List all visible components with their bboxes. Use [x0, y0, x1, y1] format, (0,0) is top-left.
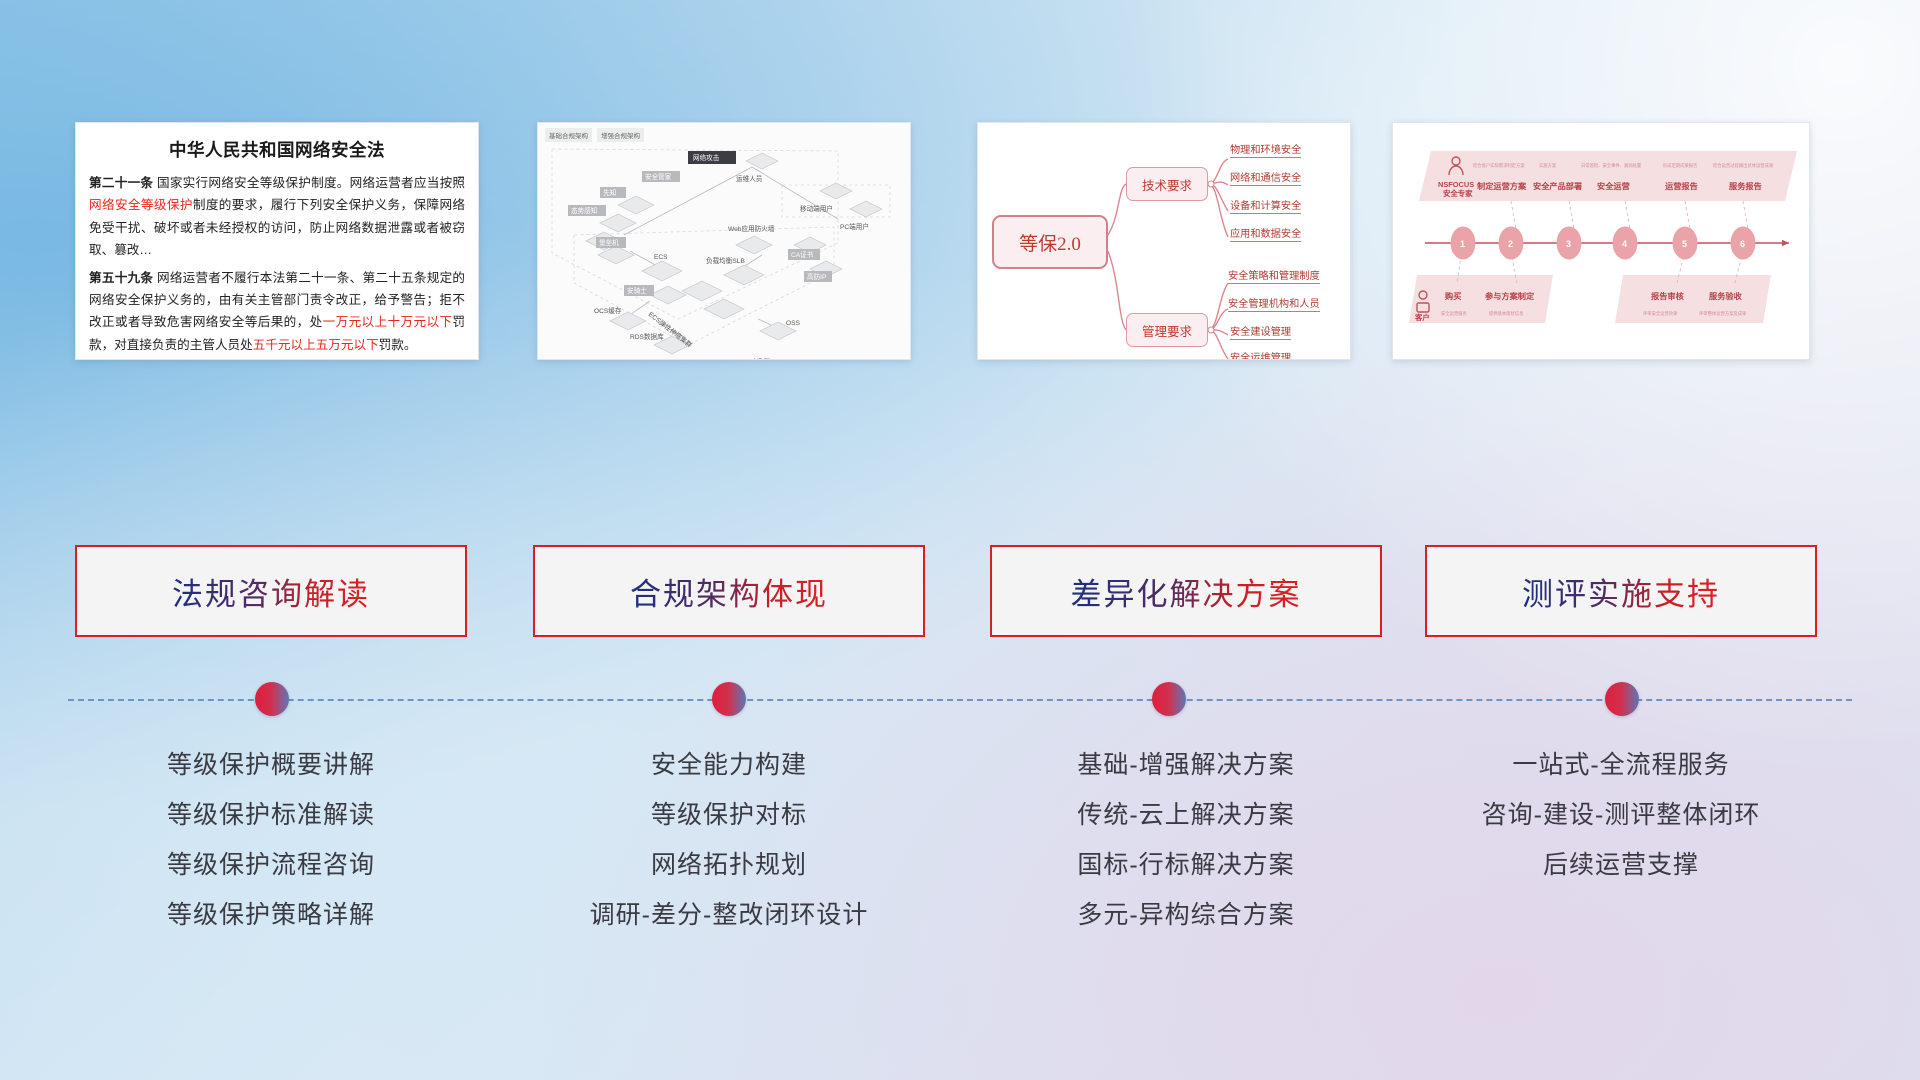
node-label-15: OCS缓存 [594, 306, 622, 315]
flow-bot-sub-5: 评审安全运营效果 [1643, 310, 1678, 317]
title-box-differentiated-solution[interactable]: 差异化解决方案 [990, 545, 1382, 637]
list-item: 等级保护概要讲解 [75, 740, 467, 790]
list-item: 等级保护流程咨询 [75, 840, 467, 890]
flow-bot-sub-6: 评审整体运营方案及成果 [1699, 310, 1747, 317]
mindmap-diagram: 等保2.0 技术要求 管理要求 物理和环境安全 网络和通信安全 设备和计算安全 … [978, 123, 1350, 359]
node-label-10: 高防IP [807, 272, 827, 281]
title-label-4: 测评实施支持 [1522, 569, 1720, 614]
mindmap-leaf-m1[interactable]: 安全管理机构和人员 [1228, 295, 1320, 312]
law-title: 中华人民共和国网络安全法 [89, 137, 465, 162]
mindmap-branch-technical[interactable]: 技术要求 [1126, 167, 1208, 201]
detail-list-compliance-architecture: 安全能力构建 等级保护对标 网络拓扑规划 调研-差分-整改闭环设计 [533, 740, 925, 940]
list-item: 一站式-全流程服务 [1425, 740, 1817, 790]
timeline-dot-2[interactable] [712, 682, 746, 716]
timeline [0, 695, 1920, 705]
service-flow-diagram: 1 2 3 4 5 6 NSFOCUS 安全专家 客户 [1393, 123, 1809, 359]
detail-list-differentiated-solution: 基础-增强解决方案 传统-云上解决方案 国标-行标解决方案 多元-异构综合方案 [990, 740, 1382, 940]
flow-bot-sub-2: 提供基本现状信息 [1489, 310, 1524, 317]
list-item: 后续运营支撑 [1425, 840, 1817, 890]
service-flow-canvas: 1 2 3 4 5 6 NSFOCUS 安全专家 客户 [1393, 123, 1810, 360]
law-article-label-1: 第二十一条 [89, 176, 153, 190]
node-label-5: 移动端用户 [800, 204, 833, 213]
node-label-3: 态势感知 [571, 206, 597, 215]
law-seg-2-3-highlight: 五千元以上五万元以下 [253, 338, 379, 352]
list-item: 基础-增强解决方案 [990, 740, 1382, 790]
architecture-canvas: 网络攻击 安全管家 先知 态势感知 运维人员 移动端用户 PC端用户 堡垒机 W… [538, 123, 911, 360]
architecture-node-shapes [586, 153, 882, 360]
list-item: 调研-差分-整改闭环设计 [533, 890, 925, 940]
flow-top-sub-3: 实施方案 [1539, 162, 1557, 169]
mindmap-leaf-t1[interactable]: 网络和通信安全 [1230, 169, 1301, 186]
mindmap-leaf-t2[interactable]: 设备和计算安全 [1230, 197, 1301, 214]
title-label-3: 差异化解决方案 [1071, 569, 1302, 614]
mindmap-root-node[interactable]: 等保2.0 [992, 215, 1108, 269]
flow-top-title-2: 制定运营方案 [1477, 181, 1527, 191]
list-item: 安全能力构建 [533, 740, 925, 790]
node-label-8: Web应用防火墙 [728, 224, 775, 233]
flow-top-sub-6: 结合运营过程输出总体运营成果 [1713, 162, 1774, 169]
mindmap-leaf-m0[interactable]: 安全策略和管理制度 [1228, 267, 1320, 284]
node-label-9: CA证书 [791, 250, 814, 259]
architecture-diagram: 基础合规架构 增强合规架构 [538, 123, 910, 359]
title-box-regulation-consulting[interactable]: 法规咨询解读 [75, 545, 467, 637]
law-seg-2-4: 罚款。 [379, 338, 417, 352]
node-label-4: 运维人员 [736, 174, 763, 183]
law-body: 中华人民共和国网络安全法 第二十一条 国家实行网络安全等级保护制度。网络运营者应… [76, 123, 478, 360]
node-label-2: 先知 [603, 188, 616, 197]
flow-top-sub-4: 日常巡检、安全事件、漏洞处置 [1581, 162, 1642, 169]
flow-bot-title-6: 服务验收 [1709, 291, 1743, 301]
flow-bottom-banner-right [1615, 275, 1771, 323]
timeline-dot-1[interactable] [255, 682, 289, 716]
flow-step-number-5: 5 [1682, 239, 1687, 249]
node-label-7: 堡垒机 [599, 238, 619, 247]
flow-top-title-4: 安全运营 [1597, 181, 1630, 191]
flow-top-title-3: 安全产品部署 [1533, 181, 1582, 191]
mindmap-leaf-t3[interactable]: 应用和数据安全 [1230, 225, 1301, 242]
detail-list-row: 等级保护概要讲解 等级保护标准解读 等级保护流程咨询 等级保护策略详解 安全能力… [0, 740, 1920, 960]
flow-step-number-3: 3 [1566, 239, 1571, 249]
list-item: 网络拓扑规划 [533, 840, 925, 890]
node-label-1: 安全管家 [645, 172, 672, 181]
brand-line-2: 安全专家 [1443, 189, 1473, 198]
preview-card-row: 中华人民共和国网络安全法 第二十一条 国家实行网络安全等级保护制度。网络运营者应… [0, 122, 1920, 362]
brand-line-1: NSFOCUS [1438, 180, 1474, 189]
law-seg-1-0: 国家实行网络安全等级保护制度。网络运营者应当按照 [153, 176, 465, 190]
flow-axis-arrow [1782, 240, 1789, 246]
flow-bot-title-5: 报告审核 [1651, 291, 1685, 301]
title-label-1: 法规咨询解读 [172, 569, 370, 614]
architecture-preview-card[interactable]: 基础合规架构 增强合规架构 [537, 122, 911, 360]
customer-label: 客户 [1414, 313, 1430, 322]
detail-list-evaluation-support: 一站式-全流程服务 咨询-建设-测评整体闭环 后续运营支撑 [1425, 740, 1817, 890]
list-item: 多元-异构综合方案 [990, 890, 1382, 940]
title-box-compliance-architecture[interactable]: 合规架构体现 [533, 545, 925, 637]
law-preview-card[interactable]: 中华人民共和国网络安全法 第二十一条 国家实行网络安全等级保护制度。网络运营者应… [75, 122, 479, 360]
flow-bot-title-1: 购买 [1444, 291, 1461, 301]
node-label-12: 负载均衡SLB [706, 256, 745, 265]
node-label-11: ECS [654, 254, 668, 261]
list-item: 等级保护对标 [533, 790, 925, 840]
list-item: 等级保护策略详解 [75, 890, 467, 940]
node-label-19: VPC [754, 358, 768, 360]
mindmap-leaf-m3[interactable]: 安全运维管理 [1230, 349, 1291, 360]
flow-top-title-6: 服务报告 [1729, 181, 1762, 191]
flow-step-number-2: 2 [1508, 239, 1513, 249]
flow-top-sub-2: 结合客户实际需求制定方案 [1473, 162, 1525, 169]
node-label-6: PC端用户 [840, 222, 869, 231]
list-item: 咨询-建设-测评整体闭环 [1425, 790, 1817, 840]
flow-bot-sub-1: 安全运营服务 [1441, 310, 1467, 317]
law-seg-2-1-highlight: 一万元以上十万元以下 [323, 315, 453, 329]
flow-step-number-4: 4 [1622, 239, 1627, 249]
law-article-label-2: 第五十九条 [89, 271, 153, 285]
title-label-2: 合规架构体现 [630, 569, 828, 614]
flow-top-sub-5: 形成定期成果报告 [1663, 162, 1698, 169]
list-item: 传统-云上解决方案 [990, 790, 1382, 840]
flow-bot-title-2: 参与方案制定 [1485, 291, 1535, 301]
detail-list-regulation-consulting: 等级保护概要讲解 等级保护标准解读 等级保护流程咨询 等级保护策略详解 [75, 740, 467, 940]
timeline-dot-3[interactable] [1152, 682, 1186, 716]
title-box-row: 法规咨询解读 合规架构体现 差异化解决方案 测评实施支持 [0, 545, 1920, 637]
flow-step-number-6: 6 [1740, 239, 1745, 249]
law-paragraph-1: 第二十一条 国家实行网络安全等级保护制度。网络运营者应当按照网络安全等级保护制度… [89, 172, 465, 262]
mindmap-branch-management[interactable]: 管理要求 [1126, 313, 1208, 347]
timeline-dot-4[interactable] [1605, 682, 1639, 716]
title-box-evaluation-support[interactable]: 测评实施支持 [1425, 545, 1817, 637]
law-paragraph-2: 第五十九条 网络运营者不履行本法第二十一条、第二十五条规定的网络安全保护义务的，… [89, 267, 465, 357]
mindmap-leaf-t0[interactable]: 物理和环境安全 [1230, 141, 1301, 158]
flow-top-banner [1419, 151, 1797, 201]
mindmap-preview-card[interactable]: 等保2.0 技术要求 管理要求 物理和环境安全 网络和通信安全 设备和计算安全 … [977, 122, 1351, 360]
node-label-0: 网络攻击 [693, 153, 720, 162]
law-seg-1-1-highlight: 网络安全等级保护 [89, 198, 193, 212]
node-label-18: OSS [786, 320, 801, 327]
flow-step-number-1: 1 [1460, 239, 1465, 249]
node-label-13: 安骑士 [627, 286, 647, 295]
timeline-dashed-line [68, 699, 1852, 701]
list-item: 等级保护标准解读 [75, 790, 467, 840]
node-label-16: RDS数据库 [630, 332, 664, 341]
list-item: 国标-行标解决方案 [990, 840, 1382, 890]
flow-top-title-5: 运营报告 [1665, 181, 1698, 191]
service-flow-preview-card[interactable]: 1 2 3 4 5 6 NSFOCUS 安全专家 客户 [1392, 122, 1810, 360]
mindmap-leaf-m2[interactable]: 安全建设管理 [1230, 323, 1291, 340]
